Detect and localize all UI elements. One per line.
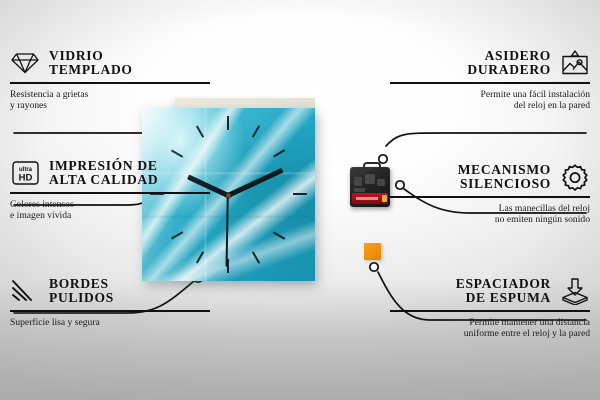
feature-description: Permite mantener una distancia uniforme … (390, 317, 590, 340)
mechanism-slot (354, 177, 362, 186)
diamond-icon (10, 48, 40, 78)
feature-espaciador-de-espuma[interactable]: ESPACIADOR DE ESPUMA Permite mantener un… (390, 276, 590, 340)
feature-header: BORDES PULIDOS (10, 276, 210, 306)
mechanism-battery (352, 193, 388, 204)
feature-divider (390, 196, 590, 198)
feature-divider (10, 82, 210, 84)
svg-text:HD: HD (18, 173, 32, 184)
feature-header: ESPACIADOR DE ESPUMA (390, 276, 590, 306)
feature-title: IMPRESIÓN DE ALTA CALIDAD (49, 159, 158, 188)
ultra-hd-icon: ultra HD (10, 158, 40, 188)
wire-asidero (386, 133, 586, 146)
clock-mechanism (350, 167, 390, 207)
mechanism-slot (354, 188, 365, 192)
battery-label-stripe (356, 197, 378, 200)
picture-frame-hanger-icon (560, 48, 590, 78)
feature-divider (10, 192, 210, 194)
feature-title: MECANISMO SILENCIOSO (458, 163, 551, 192)
battery-positive-tip (382, 195, 387, 202)
mechanism-body (350, 167, 390, 207)
feature-description: Superficie lisa y segura (10, 317, 210, 329)
feature-impresion-alta-calidad[interactable]: ultra HD IMPRESIÓN DE ALTA CALIDAD Color… (10, 158, 210, 222)
feature-description: Las manecillas del reloj no emiten ningú… (390, 203, 590, 226)
feature-description: Colores intensos e imagen vívida (10, 199, 210, 222)
clock-center-cap (226, 193, 231, 198)
feature-title: BORDES PULIDOS (49, 277, 114, 306)
polished-edges-icon (10, 276, 40, 306)
feature-vidrio-templado[interactable]: VIDRIO TEMPLADO Resistencia a grietas y … (10, 48, 210, 112)
feature-title: ASIDERO DURADERO (467, 49, 551, 78)
feature-asidero-duradero[interactable]: ASIDERO DURADERO Permite una fácil insta… (390, 48, 590, 112)
gear-icon (560, 162, 590, 192)
feature-mecanismo-silencioso[interactable]: MECANISMO SILENCIOSO Las manecillas del … (390, 162, 590, 226)
foam-spacer (364, 243, 381, 260)
feature-header: MECANISMO SILENCIOSO (390, 162, 590, 192)
feature-description: Permite una fácil instalación del reloj … (390, 89, 590, 112)
feature-divider (390, 310, 590, 312)
feature-header: ultra HD IMPRESIÓN DE ALTA CALIDAD (10, 158, 210, 188)
infographic-canvas: VIDRIO TEMPLADO Resistencia a grietas y … (0, 0, 600, 400)
clock-tick (293, 193, 307, 195)
feature-title: VIDRIO TEMPLADO (49, 49, 133, 78)
feature-description: Resistencia a grietas y rayones (10, 89, 210, 112)
feature-bordes-pulidos[interactable]: BORDES PULIDOS Superficie lisa y segura (10, 276, 210, 328)
clock-tick (227, 116, 229, 130)
arrow-onto-foam-icon (560, 276, 590, 306)
mechanism-slot (377, 179, 385, 186)
feature-header: ASIDERO DURADERO (390, 48, 590, 78)
feature-divider (390, 82, 590, 84)
feature-header: VIDRIO TEMPLADO (10, 48, 210, 78)
feature-title: ESPACIADOR DE ESPUMA (456, 277, 551, 306)
mechanism-shaft (365, 174, 375, 184)
feature-divider (10, 310, 210, 312)
